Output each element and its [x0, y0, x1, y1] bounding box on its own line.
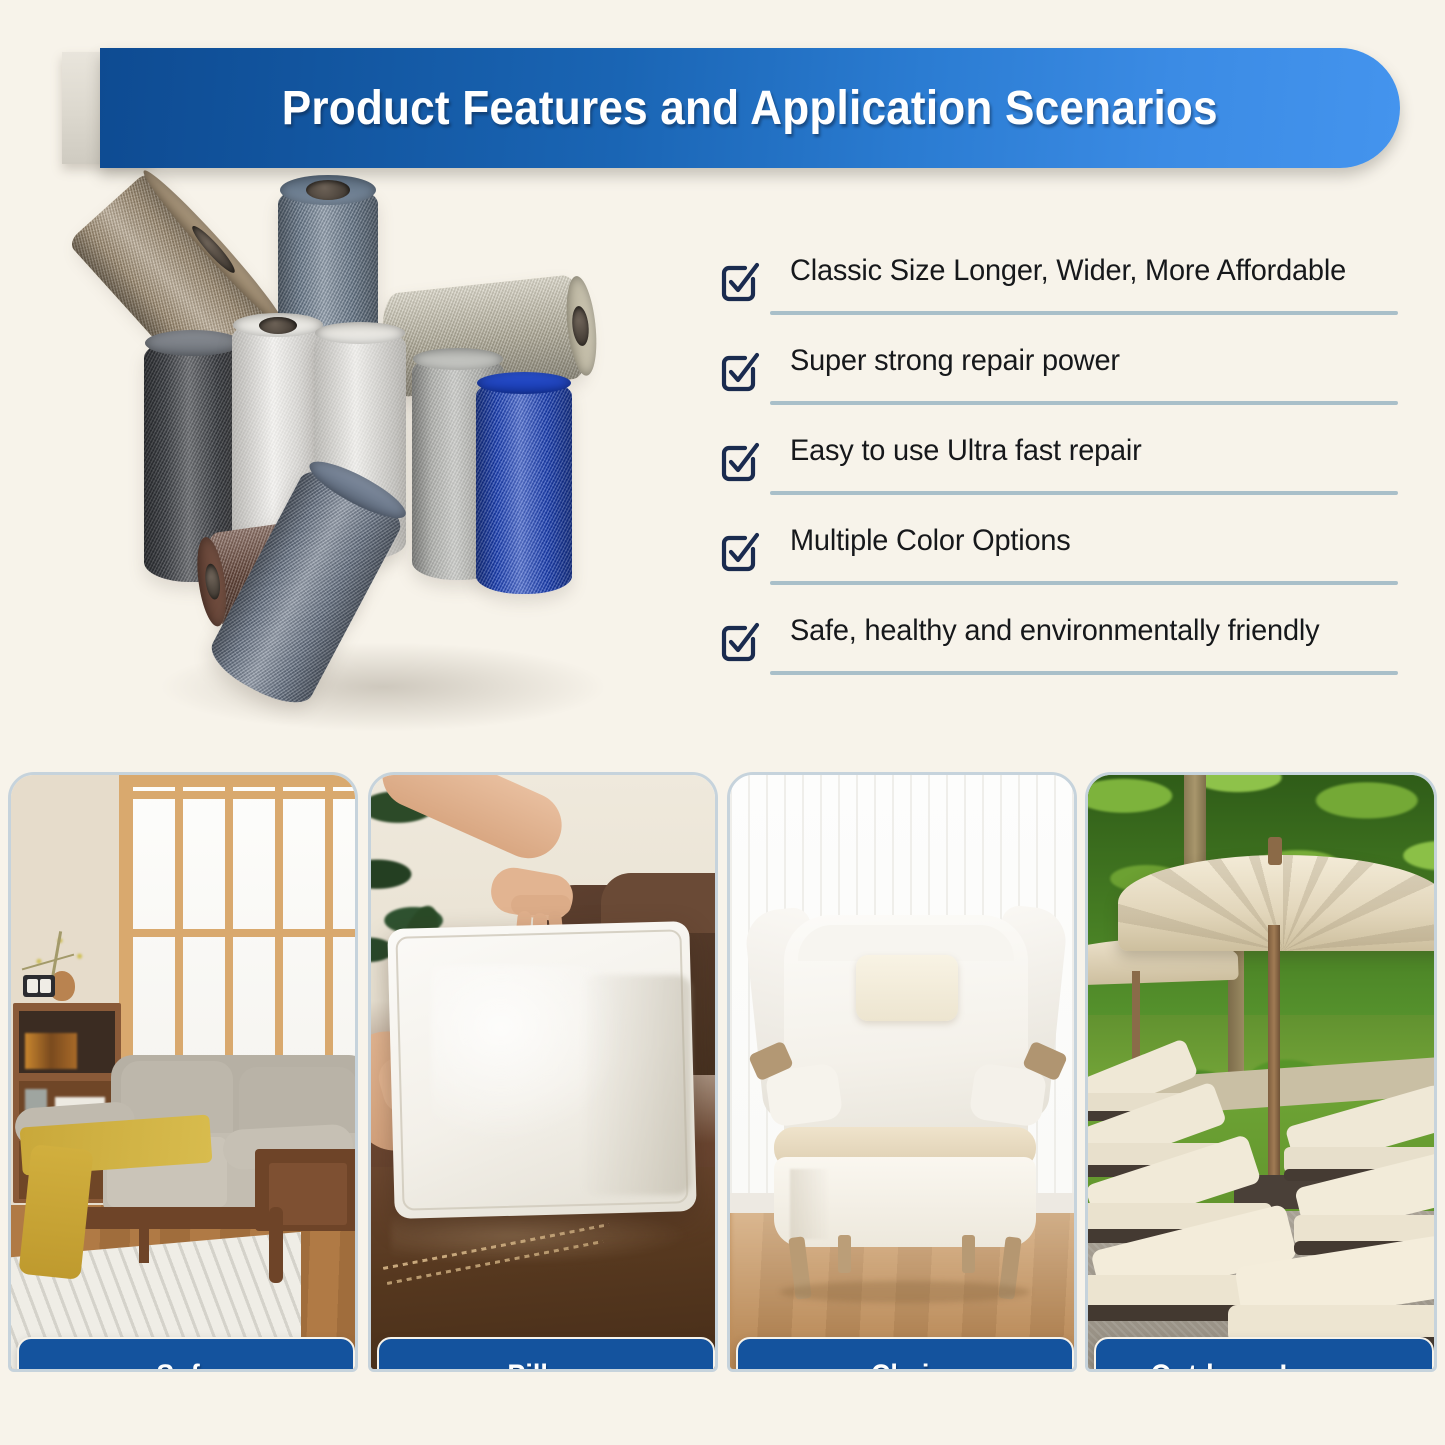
- caption-label: Pillow: [507, 1359, 585, 1372]
- caption-chair: Chair: [736, 1337, 1074, 1372]
- checkbox-checked-icon: [718, 620, 762, 664]
- scene-white-wingback-chair: [730, 775, 1074, 1369]
- feature-divider: [770, 581, 1398, 585]
- feature-item: Classic Size Longer, Wider, More Afforda…: [718, 248, 1408, 338]
- scene-hands-placing-white-pillow: [371, 775, 715, 1369]
- feature-label: Easy to use Ultra fast repair: [790, 434, 1142, 468]
- feature-label: Classic Size Longer, Wider, More Afforda…: [790, 254, 1346, 288]
- scenario-panel-sofa: Sofa: [8, 772, 358, 1372]
- scene-living-room-gray-sofa: [11, 775, 355, 1369]
- feature-label: Multiple Color Options: [790, 524, 1071, 558]
- caption-pillow: Pillow: [377, 1337, 715, 1372]
- feature-list: Classic Size Longer, Wider, More Afforda…: [718, 248, 1408, 698]
- feature-divider: [770, 311, 1398, 315]
- checkbox-checked-icon: [718, 440, 762, 484]
- roll-royal-blue: [476, 378, 572, 594]
- checkbox-checked-icon: [718, 530, 762, 574]
- checkbox-checked-icon: [718, 350, 762, 394]
- scenario-panel-outdoors-lounge: Outdoors Lounge: [1085, 772, 1437, 1372]
- page-title: Product Features and Application Scenari…: [282, 81, 1218, 136]
- feature-item: Safe, healthy and environmentally friend…: [718, 608, 1408, 698]
- caption-sofa: Sofa: [17, 1337, 355, 1372]
- feature-label: Super strong repair power: [790, 344, 1120, 378]
- caption-label: Outdoors Lounge: [1151, 1359, 1377, 1372]
- caption-outdoors-lounge: Outdoors Lounge: [1094, 1337, 1434, 1372]
- product-infographic: Product Features and Application Scenari…: [0, 0, 1445, 1445]
- header-banner: Product Features and Application Scenari…: [0, 48, 1445, 168]
- scene-resort-lounge-chairs: [1088, 775, 1434, 1369]
- feature-item: Super strong repair power: [718, 338, 1408, 428]
- feature-label: Safe, healthy and environmentally friend…: [790, 614, 1319, 648]
- banner-body: Product Features and Application Scenari…: [100, 48, 1400, 168]
- feature-item: Multiple Color Options: [718, 518, 1408, 608]
- checkbox-checked-icon: [718, 260, 762, 304]
- caption-label: Chair: [870, 1359, 939, 1372]
- feature-divider: [770, 401, 1398, 405]
- feature-divider: [770, 491, 1398, 495]
- feature-item: Easy to use Ultra fast repair: [718, 428, 1408, 518]
- product-image-fabric-repair-tape-rolls: [128, 172, 638, 732]
- scenario-panel-chair: Chair: [727, 772, 1077, 1372]
- scenario-panel-pillow: Pillow: [368, 772, 718, 1372]
- feature-divider: [770, 671, 1398, 675]
- caption-label: Sofa: [157, 1359, 216, 1372]
- application-scenarios: Sofa: [0, 772, 1445, 1422]
